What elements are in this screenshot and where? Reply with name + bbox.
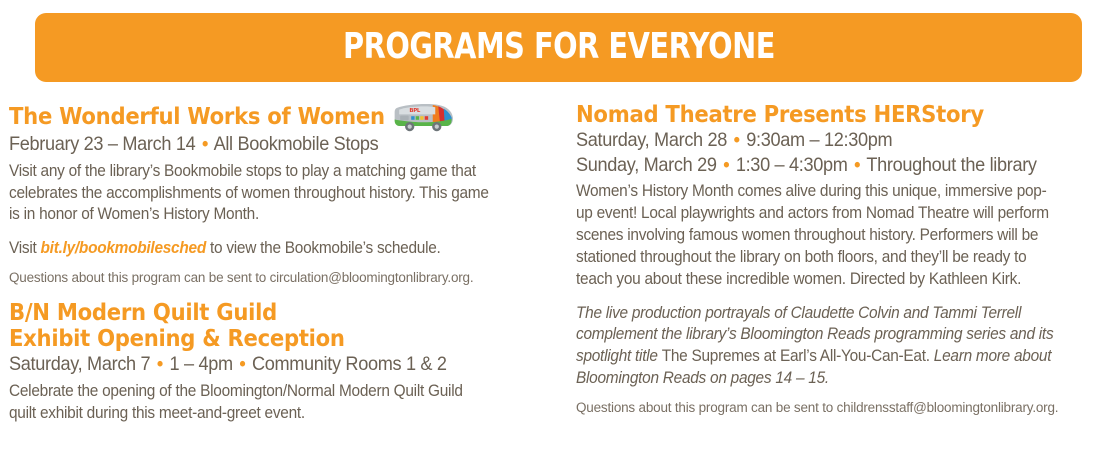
program-when-line-1: Saturday, March 28 • 9:30am – 12:30pm [576,128,1048,153]
bookmobile-icon: BPL [393,103,455,133]
program-description: Visit any of the library’s Bookmobile st… [9,161,493,226]
program-contact-note: Questions about this program can be sent… [9,269,498,287]
bullet-separator-icon: • [721,154,731,176]
program-contact-note: Questions about this program can be sent… [576,399,1059,417]
bookmobile-schedule-link[interactable]: bit.ly/bookmobilesched [41,239,206,257]
program-when-line-2: Sunday, March 29 • 1:30 – 4:30pm • Throu… [576,153,1048,178]
program-title: B/N Modern Quilt Guild [9,300,483,326]
bullet-separator-icon: • [852,154,862,176]
right-column: Nomad Theatre Presents HERStory Saturday… [560,102,1098,456]
program-when-line: Saturday, March 7 • 1 – 4pm • Community … [9,352,488,377]
link-suffix: to view the Bookmobile’s schedule. [206,239,441,257]
page-title: PROGRAMS FOR EVERYONE [343,29,775,67]
program-title-text: Nomad Theatre Presents HERStory [576,102,984,128]
spacer [576,291,1084,299]
program-title-text: The Wonderful Works of Women [9,104,385,130]
program-title-second-line: Exhibit Opening & Reception [9,326,483,352]
program-location: All Bookmobile Stops [214,133,379,155]
program-title: Nomad Theatre Presents HERStory [576,102,1043,128]
program-nomad-theatre-herstory: Nomad Theatre Presents HERStory Saturday… [576,102,1084,417]
program-location: Community Rooms 1 & 2 [252,353,447,375]
bullet-separator-icon: • [200,133,210,155]
program-title: The Wonderful Works of Women [9,102,483,132]
link-prefix: Visit [9,239,41,257]
program-bn-modern-quilt-guild: B/N Modern Quilt Guild Exhibit Opening &… [9,300,524,424]
program-date: Saturday, March 28 [576,129,727,151]
program-when-line: February 23 – March 14 • All Bookmobile … [9,132,488,157]
program-schedule-link-line: Visit bit.ly/bookmobilesched to view the… [9,238,493,260]
section-banner: PROGRAMS FOR EVERYONE [35,13,1082,82]
bullet-separator-icon: • [155,353,165,375]
program-date: Saturday, March 7 [9,353,150,375]
program-description: Celebrate the opening of the Bloomington… [9,381,493,425]
left-column: The Wonderful Works of Women [0,102,560,456]
program-related-note: The live production portrayals of Claude… [576,303,1054,390]
program-time: 1:30 – 4:30pm [736,154,848,176]
spacer [9,287,524,300]
spacer [9,226,524,234]
programs-columns: The Wonderful Works of Women [0,102,1098,456]
spotlight-title: The Supremes at Earl’s All-You-Can-Eat. [662,347,930,365]
program-location: Throughout the library [866,154,1036,176]
program-title-line-1: B/N Modern Quilt Guild [9,300,277,326]
program-date: Sunday, March 29 [576,154,717,176]
program-description: Women’s History Month comes alive during… [576,181,1054,290]
program-time: 9:30am – 12:30pm [746,129,892,151]
program-wonderful-works-of-women: The Wonderful Works of Women [9,102,524,287]
svg-text:BPL: BPL [410,108,421,114]
program-time: 1 – 4pm [169,353,232,375]
bullet-separator-icon: • [732,129,742,151]
program-title-line-2: Exhibit Opening & Reception [9,326,345,352]
bullet-separator-icon: • [237,353,247,375]
program-date: February 23 – March 14 [9,133,195,155]
